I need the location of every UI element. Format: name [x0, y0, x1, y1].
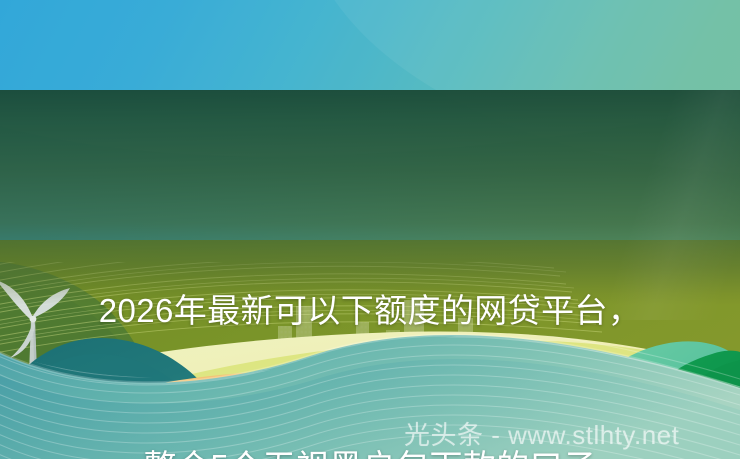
site-watermark: 光头条 - www.stlhty.net: [404, 420, 679, 450]
cover-title-line-1: 2026年最新可以下额度的网贷平台，: [0, 285, 740, 337]
cover-image: 2026年最新可以下额度的网贷平台， 整合5个无视黑户包下款的口子 光头条 - …: [0, 0, 740, 459]
cover-title: 2026年最新可以下额度的网贷平台， 整合5个无视黑户包下款的口子: [0, 181, 740, 459]
